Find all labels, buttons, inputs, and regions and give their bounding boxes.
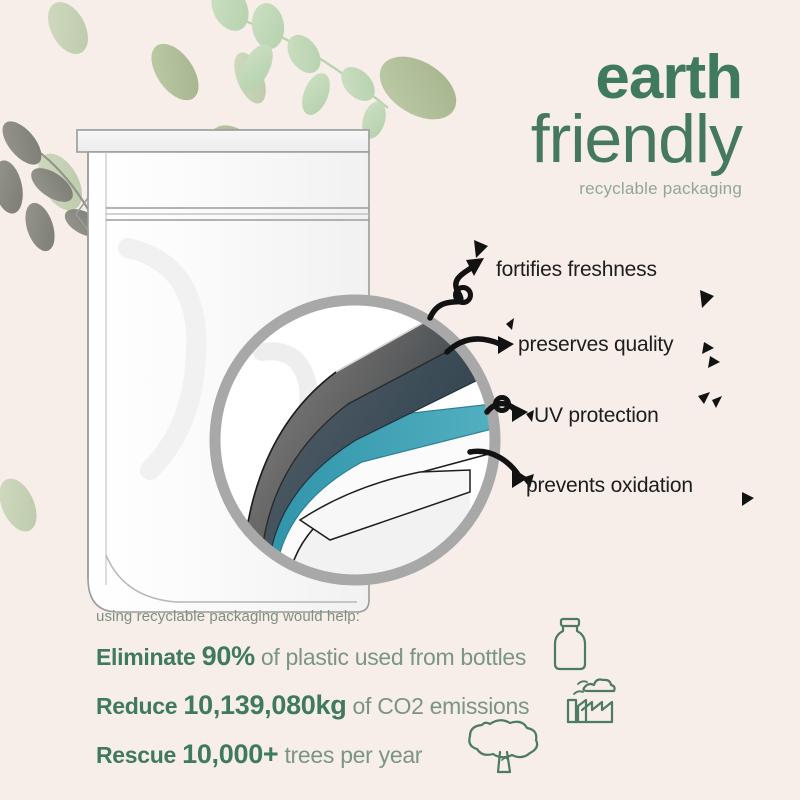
stat-tail: of plastic used from bottles xyxy=(261,644,526,670)
stat-lead: Eliminate xyxy=(96,644,196,670)
stats-intro: using recyclable packaging would help: xyxy=(96,608,529,625)
stat-number: 10,139,080kg xyxy=(183,690,346,720)
stat-number: 10,000+ xyxy=(182,739,278,769)
title-line-earth: earth xyxy=(531,48,742,109)
feature-label-prevents-oxidation: prevents oxidation xyxy=(526,474,693,498)
infographic-canvas: earth friendly recyclable packaging fort… xyxy=(0,0,800,800)
page-title-block: earth friendly recyclable packaging xyxy=(531,48,742,199)
stat-row-eliminate: Eliminate 90% of plastic used from bottl… xyxy=(96,641,529,672)
subtitle: recyclable packaging xyxy=(531,179,742,199)
feature-label-fortifies-freshness: fortifies freshness xyxy=(496,258,657,282)
bottle-icon xyxy=(548,616,592,676)
tree-icon xyxy=(460,716,544,778)
feature-label-preserves-quality: preserves quality xyxy=(518,333,673,357)
stat-lead: Reduce xyxy=(96,693,177,719)
factory-icon xyxy=(562,672,618,724)
stat-number: 90% xyxy=(202,641,255,671)
arrow-preserves-quality xyxy=(447,339,500,352)
stat-lead: Rescue xyxy=(96,742,176,768)
arrow-prevents-oxidation xyxy=(470,451,519,476)
stat-tail: trees per year xyxy=(284,742,422,768)
feature-label-uv-protection: UV protection xyxy=(534,404,659,428)
title-line-friendly: friendly xyxy=(531,105,742,173)
